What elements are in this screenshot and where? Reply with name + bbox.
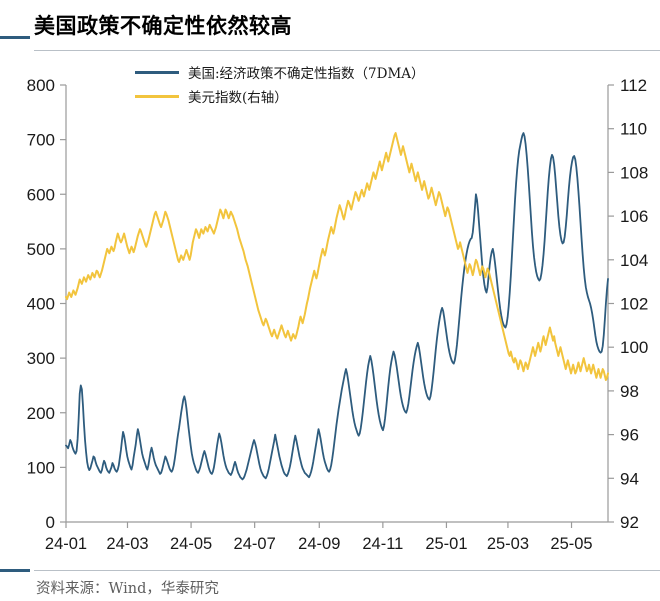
- y-left-tick-label: 400: [27, 295, 55, 314]
- y-left-tick-label: 700: [27, 131, 55, 150]
- y-left-tick-label: 500: [27, 240, 55, 259]
- x-tick-label: 24-11: [362, 535, 403, 553]
- y-left-tick-label: 600: [27, 185, 55, 204]
- y-right-tick-label: 96: [620, 426, 639, 445]
- y-right-tick-label: 92: [620, 513, 639, 532]
- plot-area: 0100200300400500600700800929496981001021…: [0, 0, 660, 601]
- x-tick-label: 24-01: [45, 535, 87, 553]
- x-tick-label: 25-01: [425, 535, 467, 553]
- y-right-tick-label: 112: [620, 76, 647, 95]
- x-tick-label: 24-05: [170, 535, 212, 553]
- y-right-tick-label: 102: [620, 295, 648, 314]
- y-right-tick-label: 110: [620, 120, 647, 139]
- x-tick-label: 25-03: [487, 535, 529, 553]
- x-tick-label: 25-05: [550, 535, 592, 553]
- x-tick-label: 24-07: [234, 535, 276, 553]
- y-right-tick-label: 100: [620, 338, 648, 357]
- y-right-tick-label: 98: [620, 382, 639, 401]
- source-note: 资料来源：Wind，华泰研究: [36, 577, 219, 598]
- x-tick-label: 24-03: [106, 535, 148, 553]
- y-right-tick-label: 108: [620, 163, 648, 182]
- y-right-tick-label: 94: [620, 469, 639, 488]
- y-left-tick-label: 800: [27, 76, 55, 95]
- series-line-dxy: [66, 133, 608, 380]
- x-tick-label: 24-09: [298, 535, 340, 553]
- axis-layer: [60, 85, 614, 528]
- y-right-tick-label: 106: [620, 207, 648, 226]
- footer-accent-bar: [0, 569, 30, 572]
- series-layer: [66, 133, 608, 479]
- y-right-tick-label: 104: [620, 251, 648, 270]
- y-left-tick-label: 200: [27, 404, 55, 423]
- y-left-tick-label: 100: [27, 458, 55, 477]
- chart-figure: 美国政策不确定性依然较高 美国:经济政策不确定性指数（7DMA） 美元指数(右轴…: [0, 0, 660, 601]
- y-left-tick-label: 300: [27, 349, 55, 368]
- series-line-epu: [66, 133, 608, 479]
- y-left-tick-label: 0: [46, 513, 55, 532]
- tick-label-layer: 0100200300400500600700800929496981001021…: [27, 76, 649, 553]
- footer-divider: [34, 570, 660, 571]
